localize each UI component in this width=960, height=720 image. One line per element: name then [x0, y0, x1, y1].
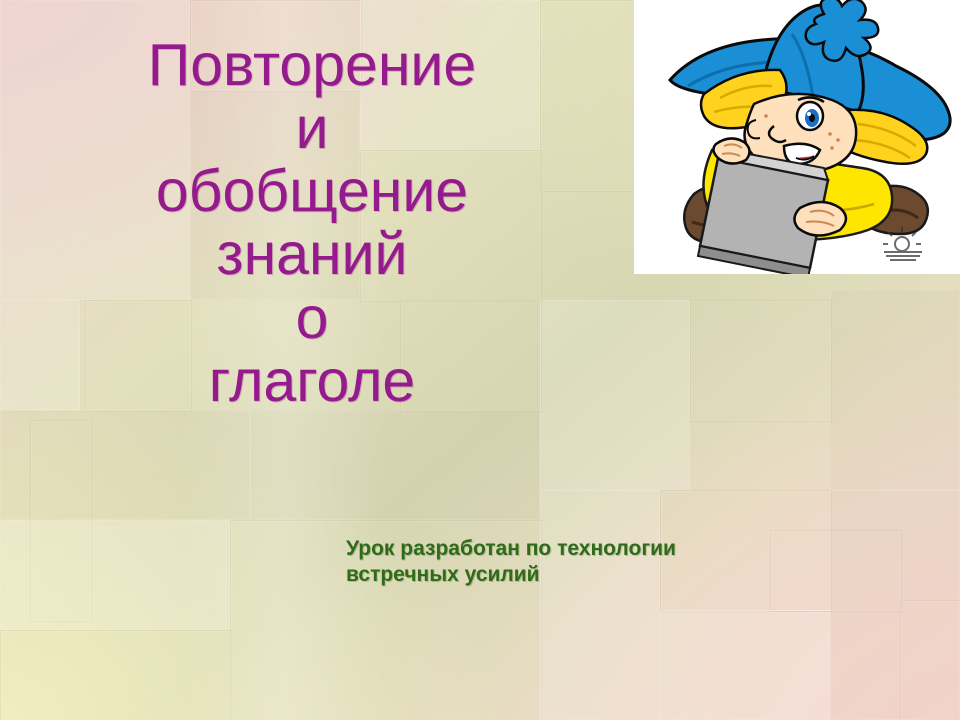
presentation-slide: Повторение и обобщение знаний о глаголе …	[0, 0, 960, 720]
illustration-panel	[634, 0, 960, 274]
cartoon-girl-with-book-icon	[634, 0, 960, 274]
slide-subtitle: Урок разработан по технологии встречных …	[346, 536, 866, 589]
slide-title: Повторение и обобщение знаний о глаголе	[62, 34, 562, 413]
